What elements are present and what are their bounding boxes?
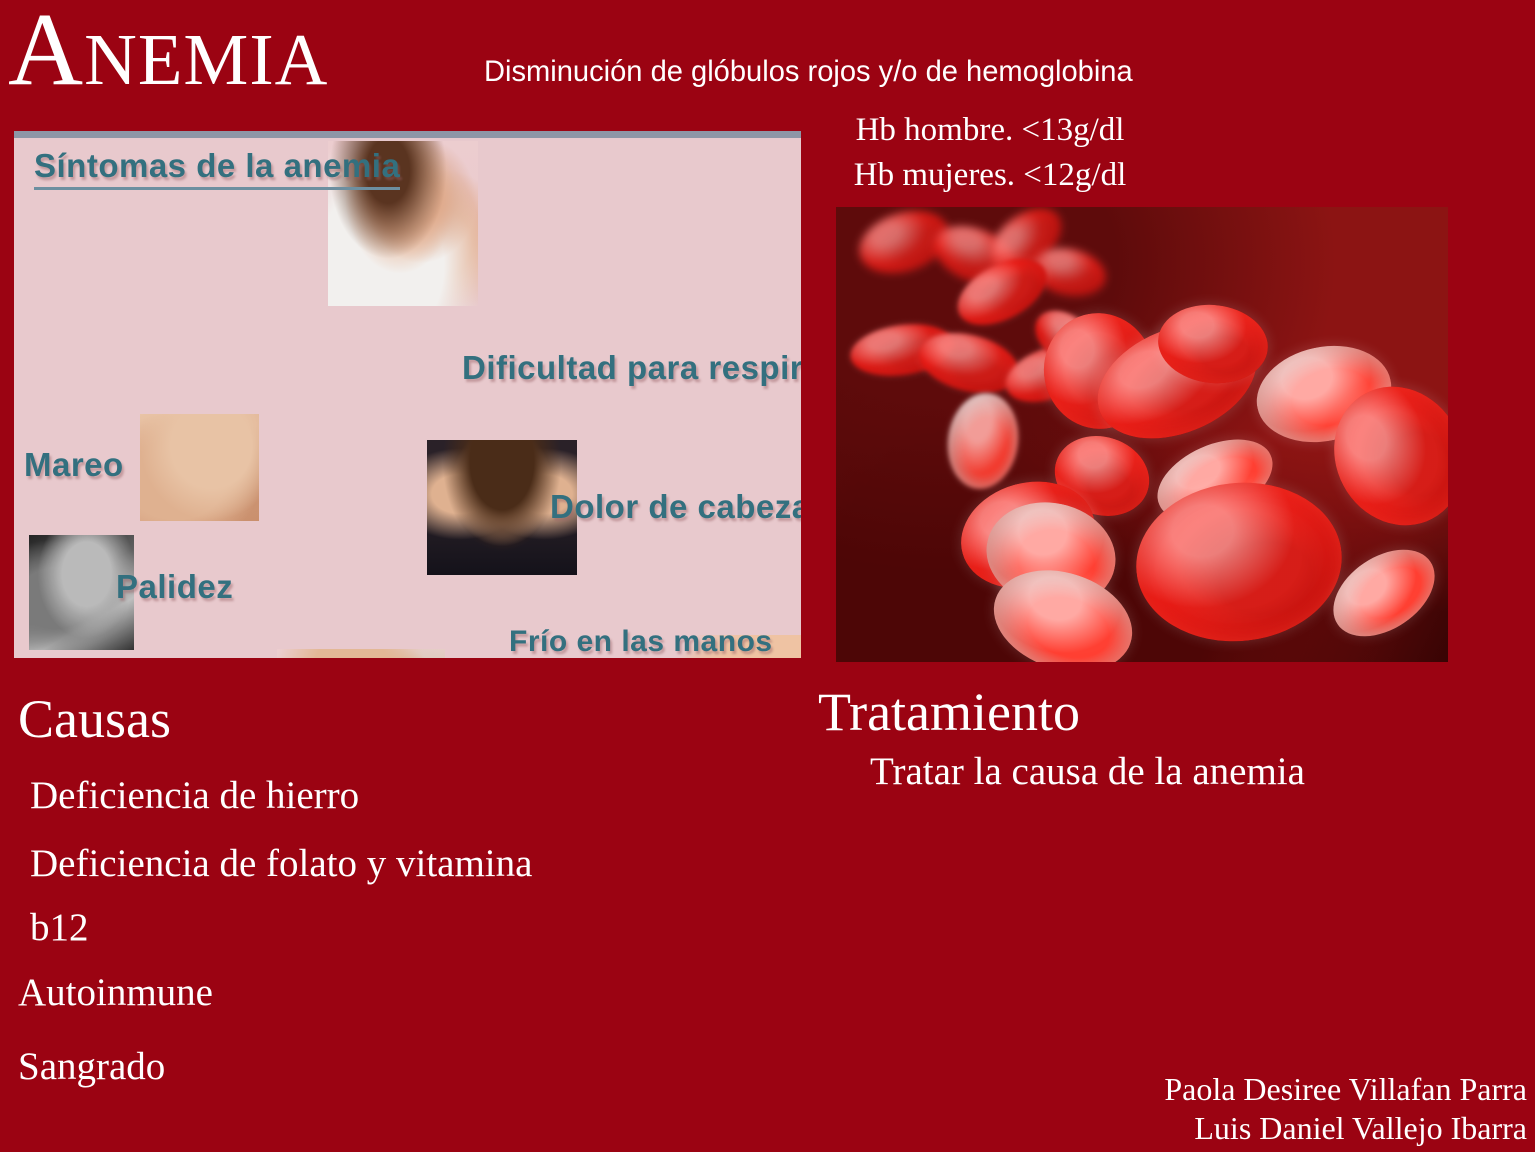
tratamiento-text: Tratar la causa de la anemia xyxy=(818,748,1518,796)
list-item: Sangrado xyxy=(0,1028,532,1106)
symptom-label-dizziness: Mareo xyxy=(24,446,124,484)
symptoms-diagram-image: Síntomas de la anemia Mareo Dificultad p… xyxy=(14,131,801,658)
causas-heading: Causas xyxy=(18,690,171,748)
symptom-label-paleness: Palidez xyxy=(116,568,233,606)
symptom-label-headache: Dolor de cabeza xyxy=(550,488,801,526)
authors-credit: Paola Desiree Villafan Parra Luis Daniel… xyxy=(1164,1070,1527,1148)
tratamiento-heading: Tratamiento xyxy=(818,680,1518,744)
author-name: Luis Daniel Vallejo Ibarra xyxy=(1164,1109,1527,1148)
author-name: Paola Desiree Villafan Parra xyxy=(1164,1070,1527,1109)
symptom-label-cold-line1: Frío en las manos xyxy=(509,625,773,658)
symptom-label-cold-extremities: Frío en las manos y los pies xyxy=(509,623,773,658)
causas-list: Deficiencia de hierro Deficiencia de fol… xyxy=(0,762,532,1106)
tratamiento-section: Tratamiento Tratar la causa de la anemia xyxy=(818,680,1518,796)
symptoms-top-bar xyxy=(14,131,801,138)
photo-dizziness xyxy=(140,414,259,521)
page-title: Anemia xyxy=(8,0,328,104)
photo-chest-pain xyxy=(277,649,445,658)
list-item: Deficiencia de folato y vitamina xyxy=(0,830,532,898)
list-item: Autoinmune xyxy=(0,958,532,1028)
symptoms-diagram-title: Síntomas de la anemia xyxy=(34,147,400,190)
symptom-label-breathing: Dificultad para respirar xyxy=(462,349,801,387)
list-item: Deficiencia de hierro xyxy=(0,762,532,830)
page-subtitle: Disminución de glóbulos rojos y/o de hem… xyxy=(484,55,1133,89)
list-item: b12 xyxy=(0,898,532,958)
red-blood-cells-image xyxy=(836,207,1448,662)
